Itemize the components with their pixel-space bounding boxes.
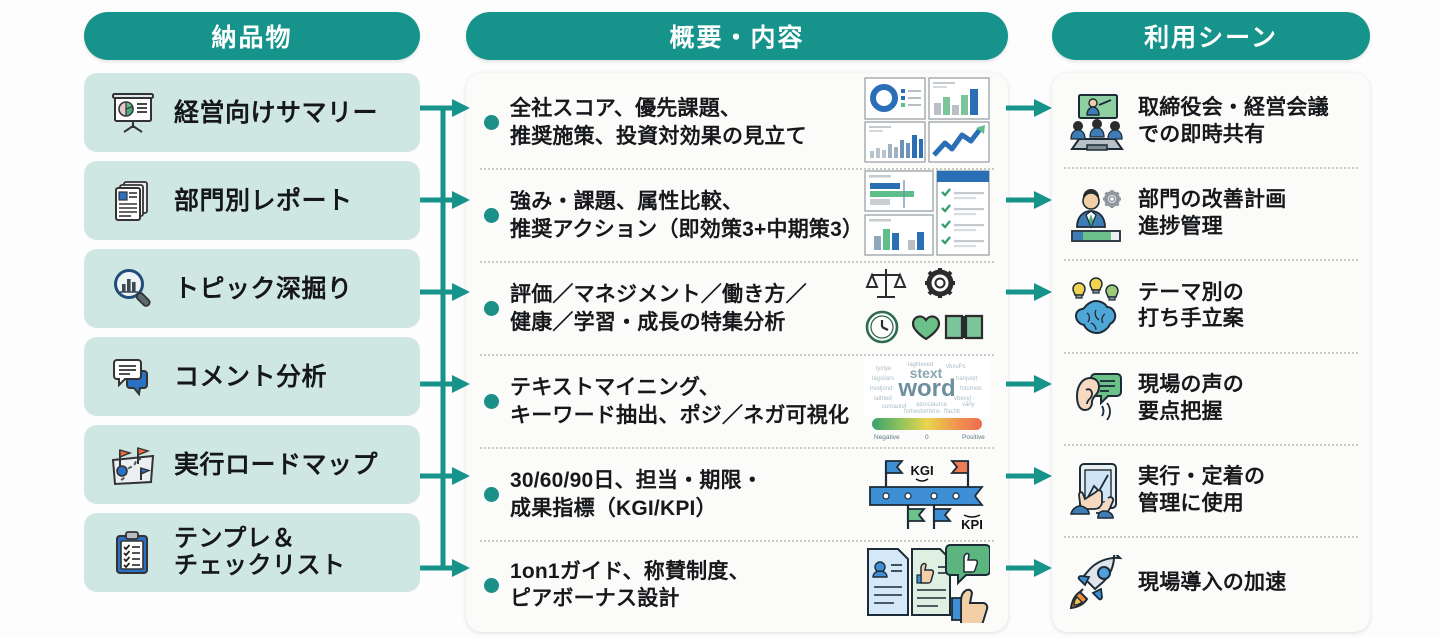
use-scene-line1: 実行・定着の: [1138, 465, 1265, 488]
deliverable-card-dept-report[interactable]: 部門別レポート: [84, 161, 420, 240]
use-scene-label: 取締役会・経営会議 での即時共有: [1138, 95, 1329, 149]
use-scene-label: 現場導入の加速: [1138, 570, 1286, 597]
overview-text: テキストマイニング、 キーワード抽出、ポジ／ネガ可視化: [510, 374, 856, 429]
deliverable-label: コメント分析: [174, 363, 327, 391]
use-scene-line1: 部門の改善計画: [1138, 188, 1286, 211]
report-compare-checklist-icon: [864, 170, 990, 261]
svg-text:lagsilars: lagsilars: [872, 376, 894, 382]
speech-bubbles-icon: [102, 352, 164, 402]
overview-panel: 全社スコア、優先課題、 推奨施策、投資対効果の見立て: [466, 73, 1008, 632]
use-scene-line2: 打ち手立案: [1138, 307, 1244, 330]
roadmap-flags-icon: [102, 440, 164, 490]
svg-text:laihted: laihted: [874, 396, 892, 402]
sentiment-positive-label: Positive: [962, 434, 985, 441]
tablet-hands-icon: [1066, 462, 1128, 520]
overview-row-topics[interactable]: 評価／マネジメント／働き方／ 健康／学習・成長の特集分析: [480, 261, 994, 354]
overview-line2: 推奨施策、投資対効果の見立て: [510, 125, 807, 148]
use-scene-row-dept-plan[interactable]: 部門の改善計画 進捗管理: [1064, 167, 1358, 259]
column-overview: 概要・内容 全社スコア、優先課題、 推奨施策、投資対効果の見立て: [466, 12, 1008, 632]
kpi-label: KPI: [961, 517, 983, 532]
deliverables-list: 経営向けサマリー: [84, 73, 420, 592]
overview-line1: 全社スコア、優先課題、: [510, 97, 741, 120]
use-scene-row-board[interactable]: 取締役会・経営会議 での即時共有: [1064, 77, 1358, 167]
use-scene-row-theme-ideas[interactable]: テーマ別の 打ち手立案: [1064, 259, 1358, 351]
svg-text:cumaulof: cumaulof: [882, 404, 907, 410]
magnifier-bar-chart-icon: [102, 264, 164, 314]
use-scene-line2: での即時共有: [1138, 123, 1265, 146]
bullet-icon: [484, 394, 499, 409]
deliverable-card-comment-analysis[interactable]: コメント分析: [84, 337, 420, 416]
use-scene-line1: 現場導入の加速: [1138, 571, 1286, 594]
deliverable-label-line1: テンプレ＆: [174, 525, 296, 552]
manager-gear-progress-icon: [1066, 185, 1128, 243]
overview-row-1on1[interactable]: 1on1ガイド、称賛制度、 ピアボーナス設計: [480, 540, 994, 628]
overview-text: 30/60/90日、担当・期限・ 成果指標（KGI/KPI）: [510, 467, 856, 522]
svg-text:fotomoe: fotomoe: [960, 386, 982, 392]
sentiment-negative-label: Negative: [874, 434, 900, 441]
svg-text:irvoljond: irvoljond: [870, 386, 892, 392]
deliverable-card-topic-deepdive[interactable]: トピック深掘り: [84, 249, 420, 328]
use-scene-line1: 現場の声の: [1138, 373, 1244, 396]
clipboard-checklist-icon: [102, 528, 164, 578]
deliverable-label: トピック深掘り: [174, 275, 353, 303]
svg-text:vany: vany: [962, 402, 975, 408]
overview-line1: 評価／マネジメント／働き方／: [510, 283, 807, 306]
svg-text:hanjuort: hanjuort: [956, 376, 978, 382]
deliverable-label-line2: チェックリスト: [174, 552, 346, 579]
column-use-scenes: 利用シーン 取締役会: [1052, 12, 1370, 632]
dashboard-four-panel-icon: [864, 77, 990, 168]
deliverable-card-summary[interactable]: 経営向けサマリー: [84, 73, 420, 152]
use-scene-row-voices[interactable]: 現場の声の 要点把握: [1064, 352, 1358, 444]
column-header-use-scenes: 利用シーン: [1052, 12, 1370, 60]
kgi-label: KGI: [910, 463, 933, 478]
documents-thumbsup-icon: [864, 543, 990, 628]
overview-text: 強み・課題、属性比較、 推奨アクション（即効策3+中期策3）: [510, 188, 856, 243]
deliverable-label: 経営向けサマリー: [174, 99, 378, 127]
svg-text:lagNeved: lagNeved: [908, 362, 933, 368]
overview-line1: 強み・課題、属性比較、: [510, 190, 743, 213]
use-scene-row-execution[interactable]: 実行・定着の 管理に使用: [1064, 444, 1358, 536]
overview-line2: 推奨アクション（即効策3+中期策3）: [510, 218, 863, 241]
brain-ideas-icon: [1066, 277, 1128, 335]
overview-row-textmining[interactable]: テキストマイニング、 キーワード抽出、ポジ／ネガ可視化 word stext l…: [480, 354, 994, 447]
deliverable-card-roadmap[interactable]: 実行ロードマップ: [84, 425, 420, 504]
bullet-icon: [484, 208, 499, 223]
svg-text:vbxuPs: vbxuPs: [946, 364, 966, 370]
overview-line1: テキストマイニング、: [510, 376, 720, 399]
use-scene-line2: 管理に使用: [1138, 492, 1244, 515]
timeline-kgi-kpi-icon: KGI KPI: [864, 449, 990, 540]
use-scenes-panel: 取締役会・経営会議 での即時共有: [1052, 73, 1370, 632]
deliverable-label: 部門別レポート: [174, 187, 353, 215]
use-scene-line1: 取締役会・経営会議: [1138, 96, 1329, 119]
overview-line1: 30/60/90日、担当・期限・: [510, 469, 763, 492]
overview-line2: 成果指標（KGI/KPI）: [510, 497, 717, 520]
deliverable-label: 実行ロードマップ: [174, 451, 378, 479]
overview-text: 全社スコア、優先課題、 推奨施策、投資対効果の見立て: [510, 95, 856, 150]
overview-line2: ピアボーナス設計: [510, 587, 680, 610]
wordcloud-sentiment-icon: word stext lyctyelagNevedvbxuPs lagsilar…: [864, 356, 990, 447]
svg-text:atonclaurce: atonclaurce: [916, 402, 948, 408]
ear-listening-icon: [1066, 370, 1128, 428]
column-deliverables: 納品物: [84, 12, 420, 592]
svg-text:lyctye: lyctye: [876, 366, 892, 372]
use-scene-label: テーマ別の 打ち手立案: [1138, 280, 1244, 334]
column-header-deliverables: 納品物: [84, 12, 420, 60]
use-scene-label: 実行・定着の 管理に使用: [1138, 464, 1265, 518]
boardroom-meeting-icon: [1066, 93, 1128, 151]
left-to-mid-arrows: [420, 99, 470, 577]
use-scene-label: 部門の改善計画 進捗管理: [1138, 187, 1286, 241]
presentation-chart-icon: [102, 88, 164, 138]
deliverable-card-template-checklist[interactable]: テンプレ＆ チェックリスト: [84, 513, 420, 592]
overview-text: 1on1ガイド、称賛制度、 ピアボーナス設計: [510, 558, 856, 613]
use-scene-label: 現場の声の 要点把握: [1138, 372, 1244, 426]
overview-line2: 健康／学習・成長の特集分析: [510, 311, 786, 334]
deliverable-label: テンプレ＆ チェックリスト: [174, 526, 346, 580]
bullet-icon: [484, 115, 499, 130]
use-scene-row-rollout[interactable]: 現場導入の加速: [1064, 536, 1358, 628]
rocket-icon: [1066, 555, 1128, 611]
use-scene-line2: 進捗管理: [1138, 215, 1223, 238]
diagram-board: 納品物: [0, 0, 1440, 638]
svg-text:ffachit: ffachit: [944, 409, 960, 415]
bullet-icon: [484, 578, 499, 593]
overview-row-dept[interactable]: 強み・課題、属性比較、 推奨アクション（即効策3+中期策3）: [480, 168, 994, 261]
overview-line2: キーワード抽出、ポジ／ネガ可視化: [510, 404, 849, 427]
sentiment-neutral-label: 0: [925, 434, 929, 441]
overview-text: 評価／マネジメント／働き方／ 健康／学習・成長の特集分析: [510, 281, 856, 336]
scales-gear-clock-heart-book-icon: [864, 263, 990, 354]
svg-text:fortwobirthms: fortwobirthms: [904, 409, 940, 415]
overview-line1: 1on1ガイド、称賛制度、: [510, 560, 750, 583]
mid-to-right-arrows: [1006, 99, 1052, 577]
use-scene-line2: 要点把握: [1138, 400, 1223, 423]
bullet-icon: [484, 301, 499, 316]
bullet-icon: [484, 487, 499, 502]
use-scene-line1: テーマ別の: [1138, 281, 1244, 304]
documents-stack-icon: [102, 176, 164, 226]
overview-row-summary[interactable]: 全社スコア、優先課題、 推奨施策、投資対効果の見立て: [480, 77, 994, 168]
overview-row-roadmap[interactable]: 30/60/90日、担当・期限・ 成果指標（KGI/KPI）: [480, 447, 994, 540]
column-header-overview: 概要・内容: [466, 12, 1008, 60]
